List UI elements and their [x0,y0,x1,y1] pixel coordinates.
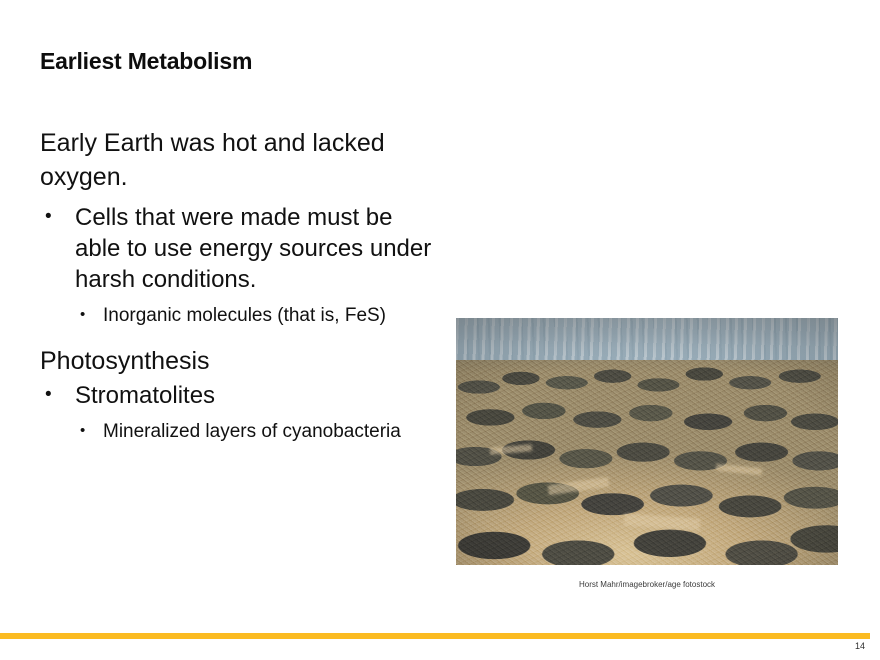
page-number: 14 [848,641,872,651]
bullet-line-level1: Early Earth was hot and lacked oxygen. [40,126,440,194]
page-title: Earliest Metabolism [40,48,252,75]
bullet-text: Mineralized layers of cyanobacteria [103,421,401,442]
bullet-text: Stromatolites [75,382,215,409]
bullet-line-level1: Photosynthesis [40,344,440,378]
bullet-dot-icon: • [45,379,52,410]
bullet-text: Early Earth was hot and lacked oxygen. [40,129,385,191]
bullet-line-level3: • Mineralized layers of cyanobacteria [40,419,440,444]
bullet-dot-icon: • [80,418,85,443]
bullet-text: Inorganic molecules (that is, FeS) [103,305,386,326]
slide-body: Early Earth was hot and lacked oxygen. •… [40,126,440,444]
bullet-line-level2: • Cells that were made must be able to u… [40,202,440,295]
photo-depth-shading [456,318,838,565]
bullet-line-level3: • Inorganic molecules (that is, FeS) [40,303,440,328]
photo-credit-caption: Horst Mahr/imagebroker/age fotostock [456,580,838,589]
stromatolite-photo [456,318,838,565]
bullet-text: Photosynthesis [40,347,210,375]
bullet-line-level2: • Stromatolites [40,380,440,411]
photo-artwork [456,318,838,565]
slide-canvas: Earliest Metabolism Early Earth was hot … [0,0,880,660]
bullet-dot-icon: • [80,302,85,327]
bullet-text: Cells that were made must be able to use… [75,204,431,293]
bullet-dot-icon: • [45,201,52,232]
footer-accent-bar [0,633,870,639]
